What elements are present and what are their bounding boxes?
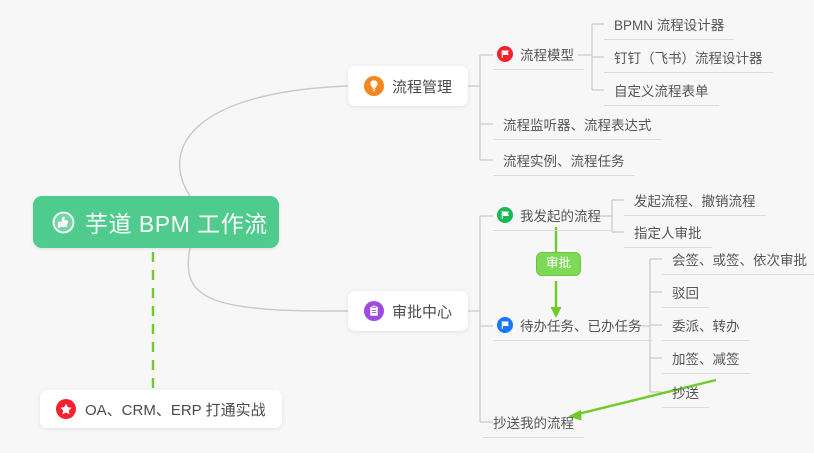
leaf-assignee-approval[interactable]: 指定人审批 bbox=[624, 219, 712, 248]
branch-node-process-management[interactable]: 流程管理 bbox=[348, 66, 468, 106]
leaf-cc-to-me-processes[interactable]: 抄送我的流程 bbox=[483, 409, 584, 438]
leaf-custom-process-form[interactable]: 自定义流程表单 bbox=[604, 77, 719, 106]
lightbulb-pin-icon bbox=[364, 76, 384, 96]
root-label: 芋道 BPM 工作流 bbox=[85, 205, 268, 239]
branch-node-approval-center[interactable]: 审批中心 bbox=[348, 291, 468, 331]
leaf-start-cancel-process[interactable]: 发起流程、撤销流程 bbox=[624, 187, 766, 216]
topic-label-my-started-processes: 我发起的流程 bbox=[520, 205, 601, 225]
flag-icon bbox=[497, 46, 513, 62]
callout-node-integration[interactable]: OA、CRM、ERP 打通实战 bbox=[40, 390, 282, 428]
leaf-add-remove-sign[interactable]: 加签、减签 bbox=[662, 345, 750, 374]
root-node[interactable]: 芋道 BPM 工作流 bbox=[33, 196, 279, 248]
leaf-dingtalk-feishu-designer[interactable]: 钉钉（飞书）流程设计器 bbox=[604, 44, 773, 73]
leaf-process-instance-task[interactable]: 流程实例、流程任务 bbox=[493, 147, 635, 176]
topic-label-todo-done-tasks: 待办任务、已办任务 bbox=[520, 315, 642, 335]
star-icon bbox=[56, 399, 76, 419]
leaf-carbon-copy[interactable]: 抄送 bbox=[662, 379, 709, 408]
leaf-countersign-orsign-sequential[interactable]: 会签、或签、依次审批 bbox=[662, 246, 814, 275]
leaf-bpmn-designer[interactable]: BPMN 流程设计器 bbox=[604, 11, 734, 40]
branch-label-approval-center: 审批中心 bbox=[392, 301, 452, 322]
branch-label-process-management: 流程管理 bbox=[392, 76, 452, 97]
flag-icon bbox=[497, 317, 513, 333]
topic-my-started-processes[interactable]: 我发起的流程 bbox=[493, 202, 611, 231]
topic-label-process-model: 流程模型 bbox=[520, 44, 574, 64]
clipboard-icon bbox=[364, 301, 384, 321]
flag-icon bbox=[497, 207, 513, 223]
callout-label-integration: OA、CRM、ERP 打通实战 bbox=[85, 399, 266, 420]
topic-todo-done-tasks[interactable]: 待办任务、已办任务 bbox=[493, 312, 652, 341]
thumbs-up-icon bbox=[51, 210, 76, 235]
leaf-delegate-transfer[interactable]: 委派、转办 bbox=[662, 312, 750, 341]
approval-badge[interactable]: 审批 bbox=[536, 252, 581, 276]
mindmap-canvas: 芋道 BPM 工作流 流程管理 审批中心 bbox=[0, 0, 814, 453]
topic-process-model[interactable]: 流程模型 bbox=[493, 41, 584, 70]
leaf-reject[interactable]: 驳回 bbox=[662, 279, 709, 308]
leaf-process-listener-expression[interactable]: 流程监听器、流程表达式 bbox=[493, 111, 662, 140]
